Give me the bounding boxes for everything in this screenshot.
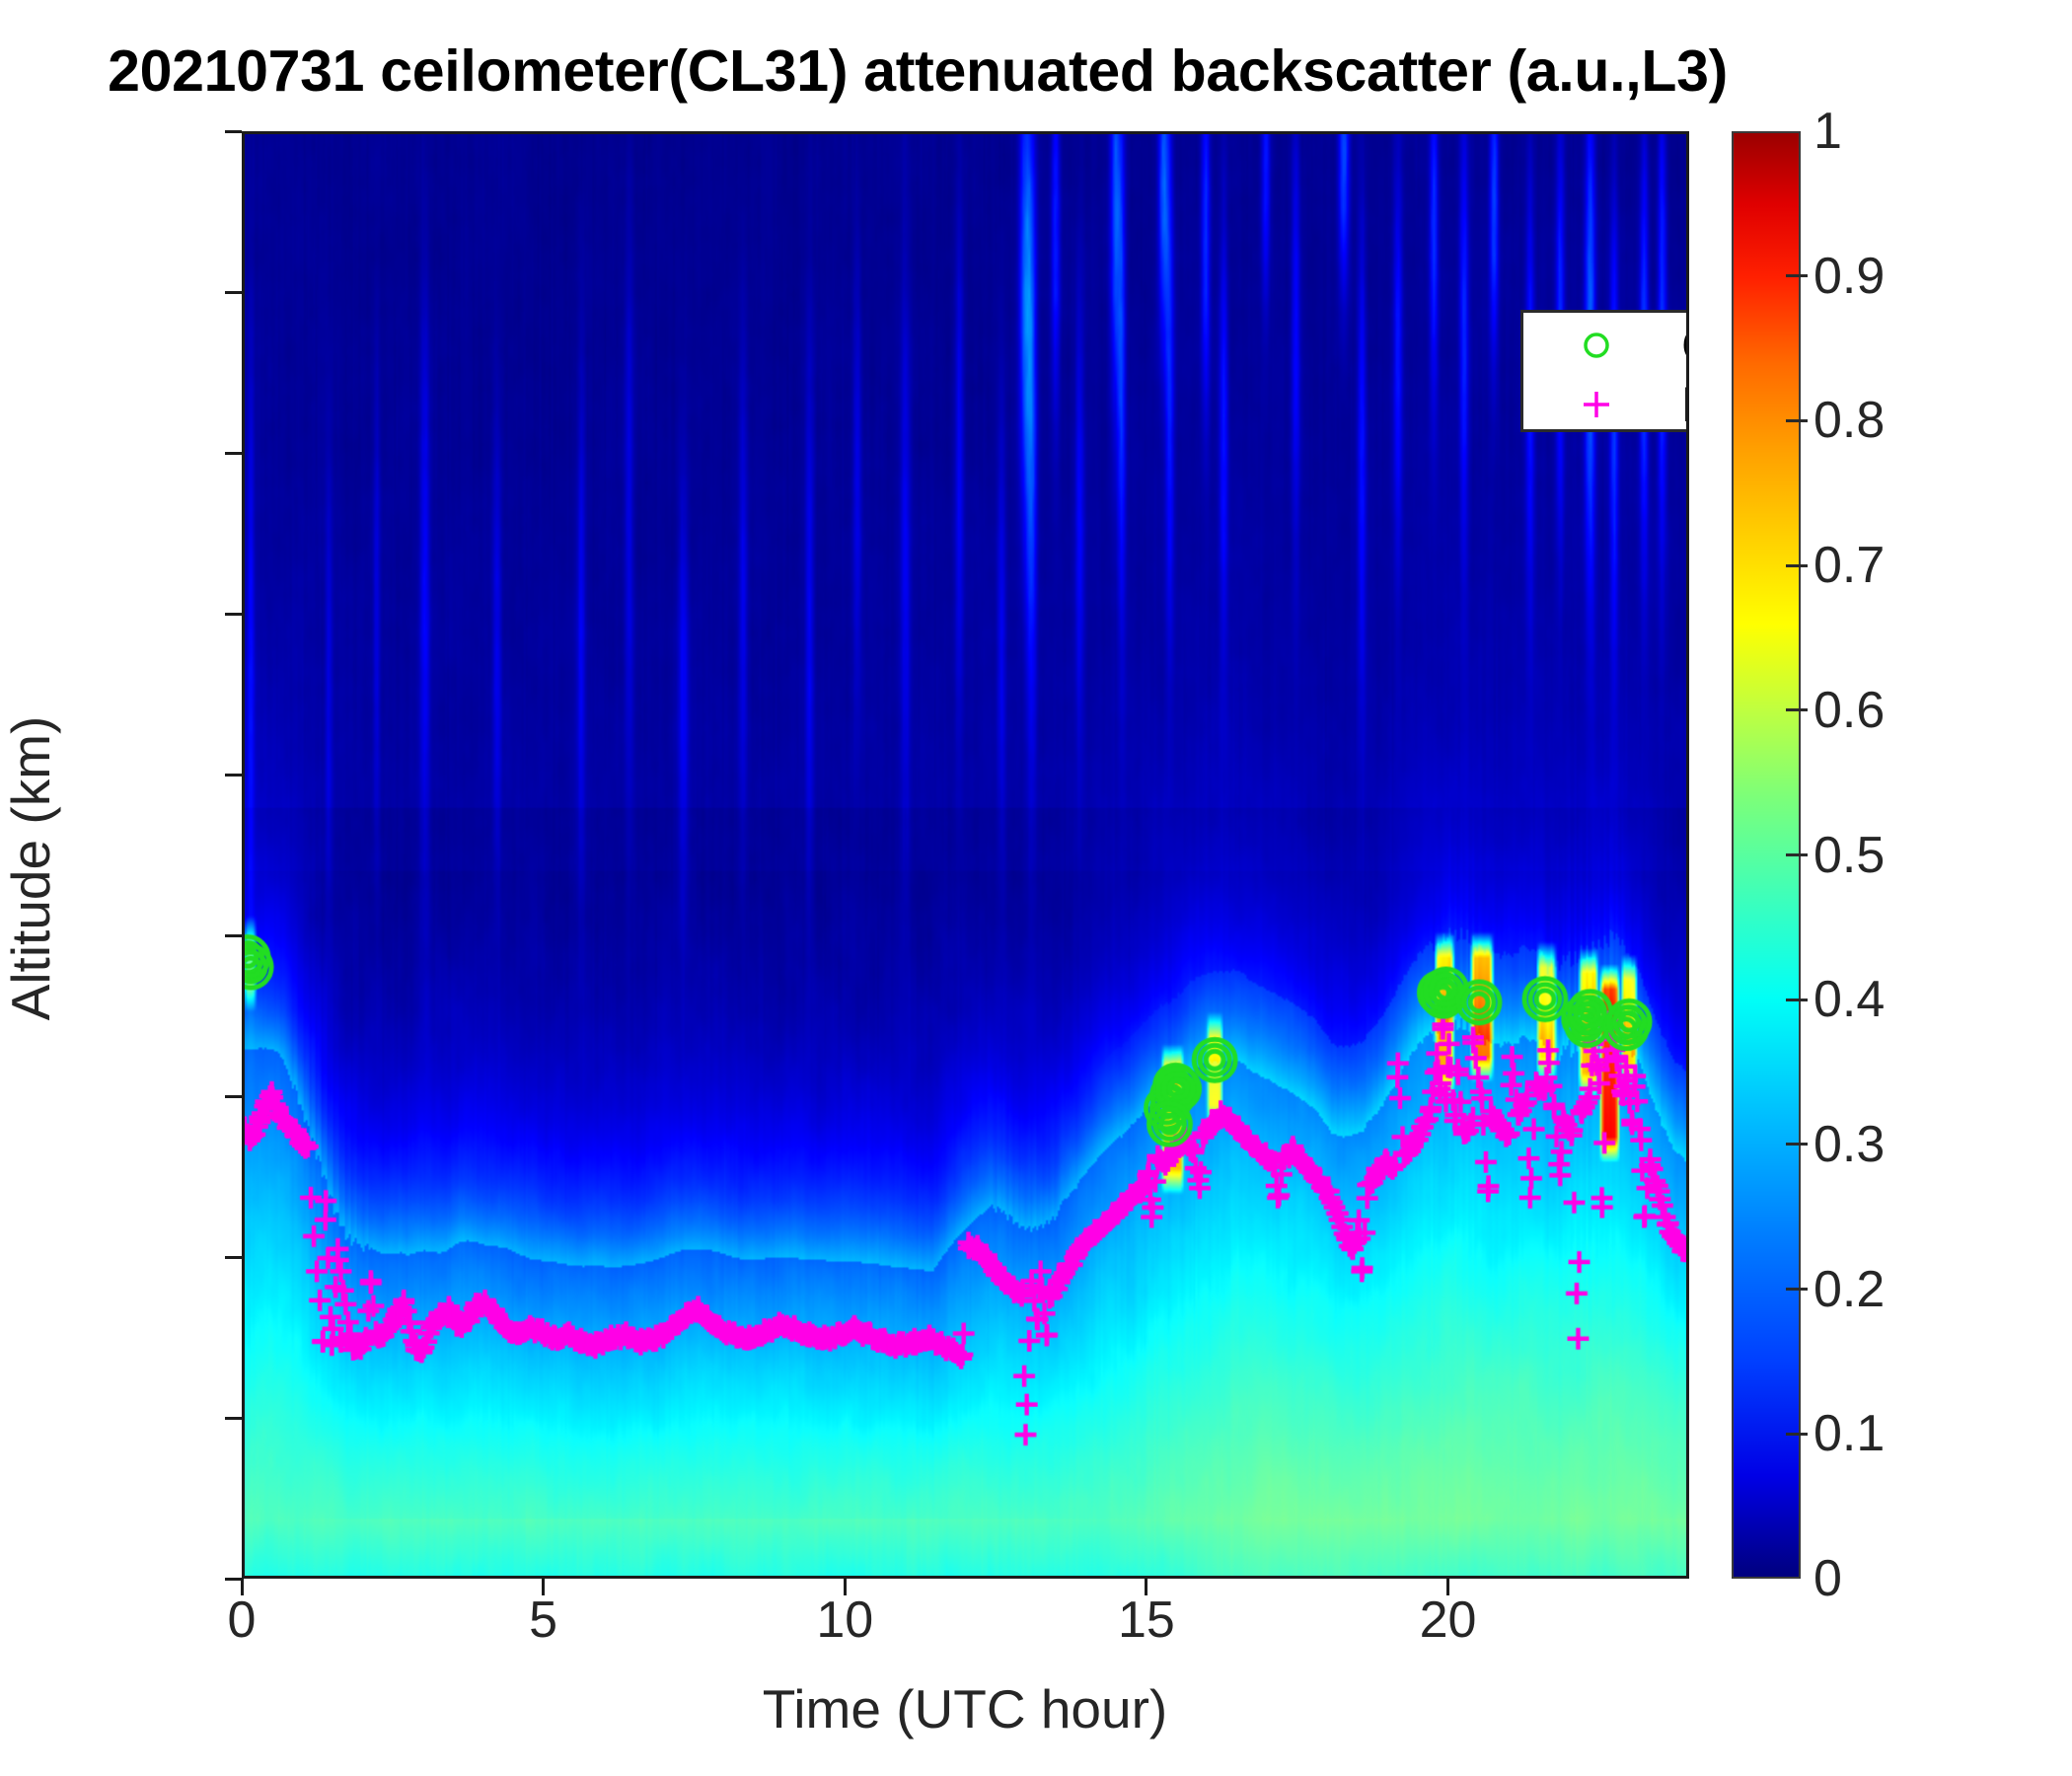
x-tick-mark	[1446, 1579, 1449, 1595]
y-axis-label: Altitude (km)	[0, 716, 62, 1021]
colorbar-tick-mark	[1786, 1433, 1808, 1436]
colorbar-tick-mark	[1786, 419, 1808, 422]
y-tick-mark	[225, 613, 242, 616]
chart-legend: CldBase MLH	[1520, 310, 1689, 432]
x-tick-mark	[241, 1579, 244, 1595]
y-tick-mark	[225, 1095, 242, 1098]
colorbar-tick-mark	[1786, 708, 1808, 711]
colorbar-tick-mark	[1786, 564, 1808, 567]
colorbar-tick-label: 0.1	[1813, 1404, 1885, 1463]
plot-area: CldBase MLH	[242, 131, 1689, 1579]
colorbar-tick-label: 0.3	[1813, 1115, 1885, 1174]
colorbar-tick-label: 0.2	[1813, 1260, 1885, 1319]
y-tick-mark	[225, 1417, 242, 1420]
circle-marker-icon	[1580, 329, 1613, 362]
x-tick-label: 10	[816, 1591, 873, 1650]
legend-entry-mlh: MLH	[1523, 374, 1689, 435]
y-tick-mark	[225, 130, 242, 133]
colorbar-tick-label: 0.5	[1813, 826, 1885, 885]
chart-title: 20210731 ceilometer(CL31) attenuated bac…	[0, 37, 1835, 105]
legend-label-cldbase: CldBase	[1681, 317, 1689, 374]
colorbar-tick-mark	[1786, 1143, 1808, 1146]
colorbar-tick-mark	[1786, 1288, 1808, 1291]
x-tick-mark	[844, 1579, 847, 1595]
y-tick-mark	[225, 1256, 242, 1259]
x-tick-label: 15	[1118, 1591, 1175, 1650]
x-tick-mark	[542, 1579, 545, 1595]
x-tick-label: 5	[529, 1591, 557, 1650]
y-tick-mark	[225, 452, 242, 455]
x-tick-mark	[1145, 1579, 1147, 1595]
colorbar-tick-label: 0.7	[1813, 536, 1885, 595]
heatmap-canvas-wrapper	[245, 134, 1686, 1576]
colorbar-tick-label: 0.6	[1813, 681, 1885, 740]
colorbar-tick-label: 1	[1813, 102, 1842, 161]
colorbar-tick-label: 0.8	[1813, 391, 1885, 450]
colorbar-tick-label: 0.4	[1813, 970, 1885, 1029]
colorbar-tick-mark	[1786, 274, 1808, 277]
markers-overlay	[245, 134, 1686, 1576]
x-tick-label: 20	[1420, 1591, 1477, 1650]
x-axis-label: Time (UTC hour)	[763, 1677, 1168, 1740]
colorbar-tick-label: 0	[1813, 1549, 1842, 1608]
colorbar-tick-label: 0.9	[1813, 247, 1885, 306]
colorbar-tick-mark	[1786, 853, 1808, 856]
legend-entry-cldbase: CldBase	[1523, 315, 1689, 376]
figure-root: 20210731 ceilometer(CL31) attenuated bac…	[0, 0, 2072, 1776]
y-tick-mark	[225, 1578, 242, 1581]
y-tick-mark	[225, 291, 242, 294]
y-tick-mark	[225, 934, 242, 937]
x-tick-label: 0	[228, 1591, 257, 1650]
colorbar-tick-mark	[1786, 999, 1808, 1001]
y-tick-mark	[225, 774, 242, 777]
plus-marker-icon	[1580, 388, 1613, 421]
legend-label-mlh: MLH	[1681, 376, 1689, 433]
